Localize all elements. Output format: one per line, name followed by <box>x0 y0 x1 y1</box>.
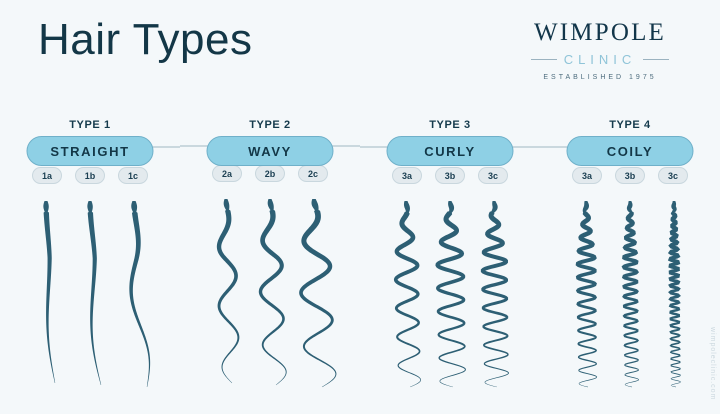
type-label-3: TYPE 3 <box>429 118 471 132</box>
hair-strand-1c <box>104 197 164 398</box>
hair-type-pill-straight[interactable]: STRAIGHT <box>27 136 154 166</box>
subtype-pill-2-2[interactable]: 2b <box>255 165 285 182</box>
hair-strand-3c <box>464 197 524 398</box>
subtype-pill-3-3[interactable]: 3c <box>478 167 508 184</box>
subtype-row-1: 1a1b1c <box>32 167 148 184</box>
pill-row-1: STRAIGHT <box>0 136 180 158</box>
subtype-pill-2-1[interactable]: 2a <box>212 165 242 182</box>
hair-strand-4c <box>644 197 704 398</box>
logo-sub-row: CLINIC <box>506 52 694 67</box>
strand-group-1 <box>24 197 156 398</box>
page-title: Hair Types <box>38 18 253 62</box>
logo-rule-left <box>531 59 557 60</box>
hair-type-pill-wavy[interactable]: WAVY <box>207 136 334 166</box>
subtype-pill-4-3[interactable]: 3c <box>658 167 688 184</box>
subtype-pill-1-3[interactable]: 1c <box>118 167 148 184</box>
subtype-pill-3-2[interactable]: 3b <box>435 167 465 184</box>
subtype-pill-4-1[interactable]: 3a <box>572 167 602 184</box>
subtype-row-4: 3a3b3c <box>572 167 688 184</box>
logo-wordmark: WIMPOLE <box>506 20 694 45</box>
subtype-row-2: 2a2b2c <box>212 165 328 182</box>
infographic-page: Hair Types WIMPOLE CLINIC ESTABLISHED 19… <box>0 0 720 414</box>
subtype-pill-2-3[interactable]: 2c <box>298 165 328 182</box>
site-watermark: wimpoleclinic.com <box>709 327 716 400</box>
logo-subtitle: CLINIC <box>564 52 637 67</box>
hair-type-column-3: TYPE 3CURLY3a3b3c <box>360 118 540 398</box>
strand-group-4 <box>564 197 696 398</box>
hair-strand-2c <box>284 195 344 398</box>
pill-row-3: CURLY <box>360 136 540 158</box>
strand-group-2 <box>204 195 336 398</box>
strand-group-3 <box>384 197 516 398</box>
subtype-pill-4-2[interactable]: 3b <box>615 167 645 184</box>
type-label-1: TYPE 1 <box>69 118 111 132</box>
subtype-pill-1-1[interactable]: 1a <box>32 167 62 184</box>
subtype-pill-3-1[interactable]: 3a <box>392 167 422 184</box>
hair-type-columns: TYPE 1STRAIGHT1a1b1cTYPE 2WAVY2a2b2cTYPE… <box>0 118 720 398</box>
hair-type-column-2: TYPE 2WAVY2a2b2c <box>180 118 360 398</box>
pill-row-2: WAVY <box>180 136 360 156</box>
hair-type-column-1: TYPE 1STRAIGHT1a1b1c <box>0 118 180 398</box>
pill-row-4: COILY <box>540 136 720 158</box>
type-label-4: TYPE 4 <box>609 118 651 132</box>
hair-type-column-4: TYPE 4COILY3a3b3c <box>540 118 720 398</box>
hair-type-pill-curly[interactable]: CURLY <box>387 136 514 166</box>
hair-type-pill-coily[interactable]: COILY <box>567 136 694 166</box>
subtype-row-3: 3a3b3c <box>392 167 508 184</box>
brand-logo: WIMPOLE CLINIC ESTABLISHED 1975 <box>506 20 694 81</box>
logo-rule-right <box>643 59 669 60</box>
logo-established: ESTABLISHED 1975 <box>506 74 694 81</box>
subtype-pill-1-2[interactable]: 1b <box>75 167 105 184</box>
type-label-2: TYPE 2 <box>249 118 291 132</box>
